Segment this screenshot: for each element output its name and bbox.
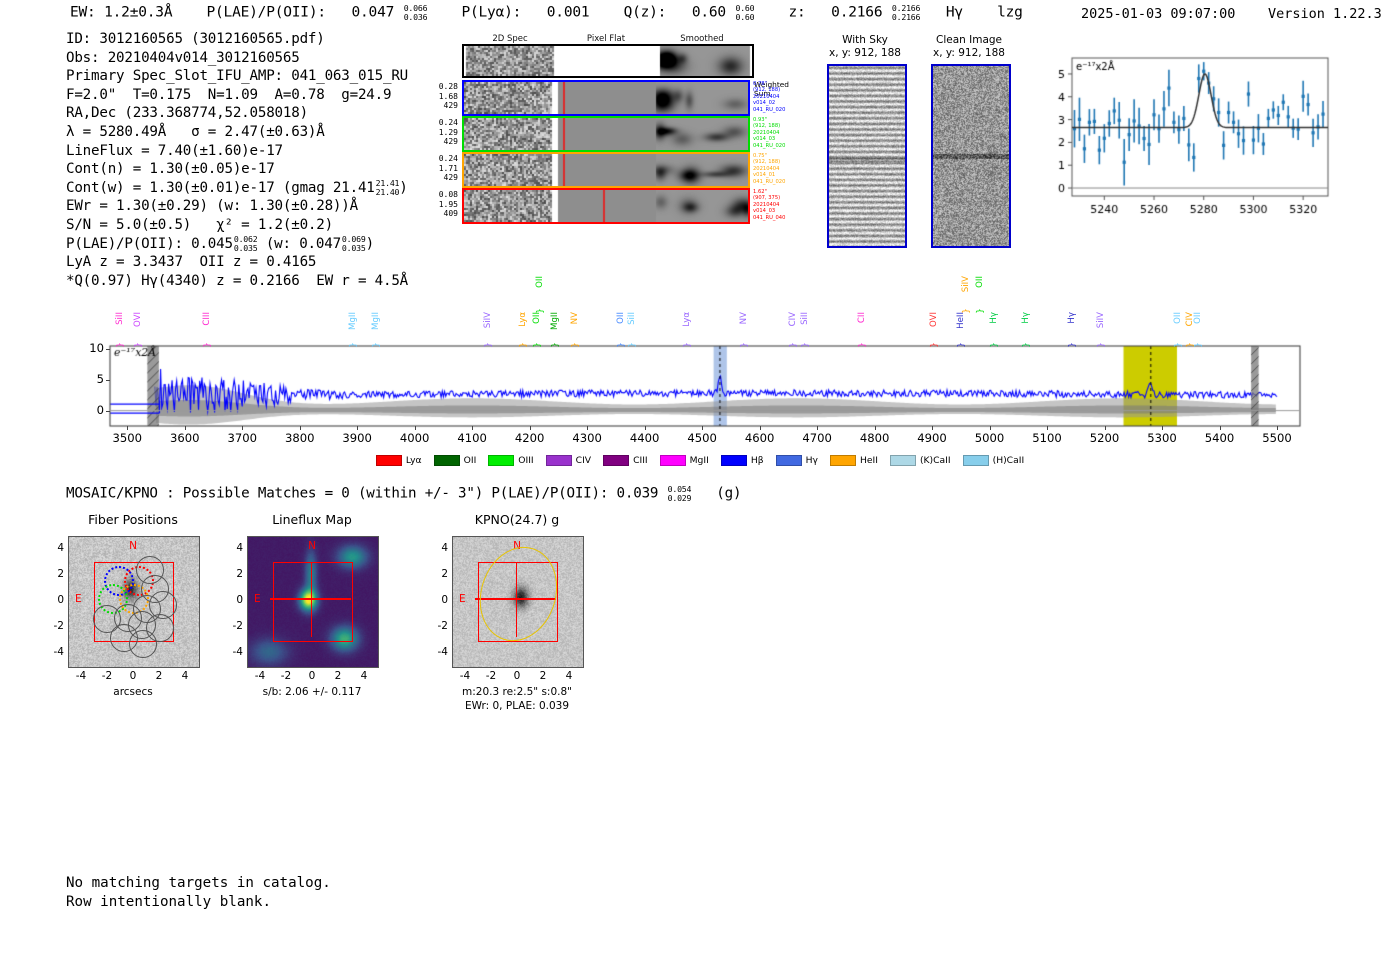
info-id: ID: 3012160565 (3012160565.pdf) — [66, 30, 408, 49]
legend-item: Hγ — [776, 455, 818, 466]
detection-info-block: ID: 3012160565 (3012160565.pdf) Obs: 202… — [66, 30, 408, 290]
info-plae-bounds: 0.0620.035 — [234, 235, 258, 252]
header-plya-label: P(Lyα): — [461, 5, 521, 21]
cutout-col-title-2dspec: 2D Spec — [462, 34, 558, 44]
spectrum-x-tickmark — [185, 426, 186, 430]
legend-item: (K)CaII — [890, 455, 951, 466]
cutout-fiber-metric: 429 — [426, 173, 458, 183]
legend-swatch — [488, 455, 514, 466]
cutout-fiber-metric: 1.71 — [426, 164, 458, 174]
spectrum-x-tick: 5000 — [975, 431, 1005, 445]
cutout-fiber-meta: 0.93"(912, 188)20210404v014_03041_RU_020 — [753, 117, 805, 149]
cutout-fiber-meta-line: 041_RU_020 — [753, 179, 805, 185]
imaging-y-tick: -4 — [428, 646, 448, 658]
legend-swatch — [603, 455, 629, 466]
info-plae: P(LAE)/P(OII): 0.0450.0620.035 (w: 0.047… — [66, 235, 408, 254]
cutout-fiber-metric: 1.95 — [426, 200, 458, 210]
spectrum-x-tickmark — [1047, 426, 1048, 430]
cutout-fiber-metrics: 0.281.68429 — [426, 82, 458, 111]
spectrum-x-tick: 3500 — [112, 431, 142, 445]
spectrum-x-tickmark — [242, 426, 243, 430]
mosaic-prefix: MOSAIC/KPNO : Possible Matches = 0 (with… — [66, 486, 658, 502]
imaging-y-tick: -4 — [223, 646, 243, 658]
info-sn: S/N = 5.0(±0.5) χ² = 1.2(±0.2) — [66, 216, 408, 235]
spectrum-x-tickmark — [472, 426, 473, 430]
spectrum-x-tickmark — [415, 426, 416, 430]
spectrum-x-tick: 4600 — [745, 431, 775, 445]
spectrum-x-tick: 5200 — [1090, 431, 1120, 445]
imaging-y-tick: 0 — [428, 594, 448, 606]
spectrum-x-tick: 3800 — [285, 431, 315, 445]
imaging-x-tick: -2 — [98, 670, 116, 682]
imaging-panels-row: Fiber PositionsNE-44-22002-24-4arcsecsLi… — [0, 508, 700, 728]
legend-item: CIV — [546, 455, 591, 466]
legend-label: (H)CaII — [993, 455, 1025, 466]
header-z-label: z: — [789, 5, 806, 21]
info-plae-w-bounds: 0.0690.035 — [342, 235, 366, 252]
imaging-x-tick: -4 — [72, 670, 90, 682]
spectrum-x-tick: 5300 — [1147, 431, 1177, 445]
spectrum-x-tick: 3900 — [342, 431, 372, 445]
cutout-fiber-row — [462, 152, 750, 188]
spectrum-x-tickmark — [1220, 426, 1221, 430]
legend-item: CIII — [603, 455, 648, 466]
clean-image-title: Clean Image — [924, 34, 1014, 47]
cutout-fiber-images — [464, 154, 748, 186]
with-sky-title: With Sky — [820, 34, 910, 47]
header-z-bounds: 0.21660.2166 — [892, 4, 920, 21]
legend-label: Lyα — [406, 455, 422, 466]
imaging-x-tick: -2 — [482, 670, 500, 682]
cutout-fiber-metric: 409 — [426, 209, 458, 219]
imaging-panel-title: KPNO(24.7) g — [434, 512, 600, 527]
cutout-col-title-smoothed: Smoothed — [654, 34, 750, 44]
spectrum-axis-ticks: 3500360037003800390040004100420043004400… — [0, 268, 1400, 468]
with-sky-image — [827, 64, 907, 248]
spectrum-x-tick: 4400 — [630, 431, 660, 445]
compass-east-label: E — [75, 593, 82, 605]
info-seeing: F=2.0" T=0.175 N=1.09 A=0.78 g=24.9 — [66, 86, 408, 105]
header-ew: EW: 1.2±0.3Å — [70, 5, 172, 21]
info-radec: RA,Dec (233.368774,52.058018) — [66, 104, 408, 123]
cutout-fiber-metric: 429 — [426, 101, 458, 111]
line-zoom-canvas — [1036, 50, 1336, 230]
header-plya-value: 0.001 — [547, 5, 590, 21]
legend-swatch — [434, 455, 460, 466]
legend-label: OIII — [518, 455, 533, 466]
spectrum-x-tickmark — [760, 426, 761, 430]
spectrum-x-tick: 4100 — [457, 431, 487, 445]
imaging-x-tick: 4 — [176, 670, 194, 682]
imaging-x-tick: -4 — [456, 670, 474, 682]
cutout-fiber-metrics: 0.241.29429 — [426, 118, 458, 147]
timestamp: 2025-01-03 09:07:00 — [1081, 6, 1235, 22]
legend-label: Hγ — [806, 455, 818, 466]
imaging-y-tick: 4 — [44, 542, 64, 554]
imaging-panel-caption: m:20.3 re:2.5" s:0.8" — [412, 686, 622, 698]
spectrum-x-tick: 5500 — [1262, 431, 1292, 445]
spectrum-x-tick: 5100 — [1032, 431, 1062, 445]
imaging-y-tick: -2 — [428, 620, 448, 632]
info-cont-w: Cont(w) = 1.30(±0.01)e-17 (gmag 21.4121.… — [66, 179, 408, 198]
spectrum-x-tick: 4000 — [400, 431, 430, 445]
cutout-fiber-row — [462, 116, 750, 152]
info-spec-slot: Primary Spec_Slot_IFU_AMP: 041_063_015_R… — [66, 67, 408, 86]
legend-item: MgII — [660, 455, 709, 466]
imaging-panel-caption: s/b: 2.06 +/- 0.117 — [207, 686, 417, 698]
info-ewr: EWr = 1.30(±0.29) (w: 1.30(±0.28))Å — [66, 197, 408, 216]
footer-line-2: Row intentionally blank. — [66, 893, 331, 912]
cutout-fiber-metrics: 0.081.95409 — [426, 190, 458, 219]
cutout-fiber-images — [464, 82, 748, 114]
spectrum-x-tick: 3600 — [170, 431, 200, 445]
spectrum-x-tickmark — [702, 426, 703, 430]
imaging-y-tick: 0 — [44, 594, 64, 606]
clean-image — [931, 64, 1011, 248]
line-zoom-plot — [1036, 50, 1336, 230]
imaging-y-tick: 2 — [44, 568, 64, 580]
sky-image-panels: With Sky x, y: 912, 188 Clean Image x, y… — [820, 34, 1020, 254]
version-label: Version 1.22.3 — [1268, 6, 1382, 22]
spectrum-x-tick: 4300 — [572, 431, 602, 445]
clean-image-title-block: Clean Image x, y: 912, 188 — [924, 34, 1014, 60]
cutout-weighted-sum-row — [462, 44, 754, 78]
legend-swatch — [776, 455, 802, 466]
cutout-fiber-metric: 1.68 — [426, 92, 458, 102]
imaging-panel-caption-secondary: EWr: 0, PLAE: 0.039 — [412, 700, 622, 712]
cutout-fiber-meta: 1.62"(907, 375)20210404v014_03041_RU_040 — [753, 189, 805, 221]
spectrum-x-tickmark — [932, 426, 933, 430]
header-timestamp-version: 2025-01-03 09:07:00 Version 1.22.3 — [1081, 6, 1382, 22]
cutout-fiber-meta-line: 041_RU_020 — [753, 143, 805, 149]
legend-item: OIII — [488, 455, 533, 466]
imaging-y-tick: -4 — [44, 646, 64, 658]
compass-north-label: N — [129, 540, 137, 552]
spectrum-y-tickmark — [106, 380, 110, 381]
gmag-bounds: 21.4121.40 — [376, 179, 400, 196]
legend-swatch — [963, 455, 989, 466]
compass-north-label: N — [308, 540, 316, 552]
spectrum-x-tickmark — [1162, 426, 1163, 430]
imaging-y-tick: 0 — [223, 594, 243, 606]
header-flags: lzg — [997, 5, 1023, 21]
legend-label: HeII — [860, 455, 878, 466]
imaging-x-tick: 0 — [508, 670, 526, 682]
with-sky-coords: x, y: 912, 188 — [820, 47, 910, 60]
imaging-x-tick: 0 — [124, 670, 142, 682]
header-z-value: 0.2166 — [831, 5, 882, 21]
cutout-fiber-meta-line: 041_RU_020 — [753, 107, 805, 113]
with-sky-title-block: With Sky x, y: 912, 188 — [820, 34, 910, 60]
legend-swatch — [830, 455, 856, 466]
imaging-y-tick: 4 — [223, 542, 243, 554]
emission-line-legend: LyαOIIOIIICIVCIIIMgIIHβHγHeII(K)CaII(H)C… — [0, 450, 1400, 469]
spectrum-x-tick: 4500 — [687, 431, 717, 445]
footer-line-1: No matching targets in catalog. — [66, 874, 331, 893]
fiber-cutout-strip: 2D Spec Pixel Flat Smoothed WeightedSum … — [462, 34, 752, 254]
cutout-fiber-metric: 1.29 — [426, 128, 458, 138]
legend-item: OII — [434, 455, 477, 466]
legend-label: Hβ — [751, 455, 764, 466]
spectrum-x-tick: 4200 — [515, 431, 545, 445]
imaging-x-tick: 2 — [329, 670, 347, 682]
spectrum-x-tickmark — [1105, 426, 1106, 430]
mosaic-suffix: (g) — [716, 486, 741, 502]
imaging-y-tick: 2 — [223, 568, 243, 580]
spectrum-x-tick: 4800 — [860, 431, 890, 445]
legend-item: (H)CaII — [963, 455, 1025, 466]
info-obs: Obs: 20210404v014_3012160565 — [66, 49, 408, 68]
imaging-x-tick: -4 — [251, 670, 269, 682]
spectrum-x-tickmark — [645, 426, 646, 430]
spectrum-y-tick: 5 — [76, 372, 104, 386]
imaging-y-tick: 4 — [428, 542, 448, 554]
imaging-y-tick: -2 — [44, 620, 64, 632]
cutout-fiber-metric: 0.08 — [426, 190, 458, 200]
legend-item: Lyα — [376, 455, 422, 466]
spectrum-x-tickmark — [875, 426, 876, 430]
clean-image-coords: x, y: 912, 188 — [924, 47, 1014, 60]
header-qz-value: 0.60 — [692, 5, 726, 21]
spectrum-x-tickmark — [817, 426, 818, 430]
footer-notes: No matching targets in catalog. Row inte… — [66, 874, 331, 911]
legend-label: CIII — [633, 455, 648, 466]
spectrum-x-tickmark — [1277, 426, 1278, 430]
fiber-aperture-circle — [93, 605, 121, 633]
cutout-fiber-metric: 0.28 — [426, 82, 458, 92]
compass-east-label: E — [254, 593, 261, 605]
legend-swatch — [660, 455, 686, 466]
full-spectrum-panel: SiII{OVI{CIII{MgII{MgII{SiIV{Lyα{OII{OII… — [0, 268, 1400, 468]
header-qz-label: Q(z): — [624, 5, 667, 21]
legend-item: Hβ — [721, 455, 764, 466]
imaging-x-tick: 4 — [355, 670, 373, 682]
imaging-x-tick: 2 — [534, 670, 552, 682]
header-line-id: Hγ — [946, 5, 963, 21]
spectrum-x-tickmark — [530, 426, 531, 430]
fiber-aperture-circle — [146, 614, 174, 642]
spectrum-x-tickmark — [357, 426, 358, 430]
cutout-fiber-meta-line: 041_RU_040 — [753, 215, 805, 221]
legend-label: (K)CaII — [920, 455, 951, 466]
cutout-fiber-row — [462, 80, 750, 116]
imaging-x-tick: 2 — [150, 670, 168, 682]
imaging-x-tick: 0 — [303, 670, 321, 682]
legend-swatch — [890, 455, 916, 466]
legend-item: HeII — [830, 455, 878, 466]
spectrum-y-tickmark — [106, 349, 110, 350]
legend-swatch — [546, 455, 572, 466]
cutout-fiber-metric: 0.24 — [426, 154, 458, 164]
spectrum-y-tickmark — [106, 411, 110, 412]
cutout-fiber-metric: 429 — [426, 137, 458, 147]
imaging-x-tick: 4 — [560, 670, 578, 682]
header-qz-bounds: 0.600.60 — [735, 4, 754, 21]
spectrum-y-tick: 0 — [76, 403, 104, 417]
imaging-x-tick: -2 — [277, 670, 295, 682]
header-plae-label: P(LAE)/P(OII): — [206, 5, 325, 21]
cutout-col-title-pixelflat: Pixel Flat — [558, 34, 654, 44]
legend-label: OII — [464, 455, 477, 466]
spectrum-x-tick: 5400 — [1205, 431, 1235, 445]
compass-east-label: E — [459, 593, 466, 605]
legend-label: MgII — [690, 455, 709, 466]
spectrum-x-tickmark — [990, 426, 991, 430]
header-summary-line: EW: 1.2±0.3Å P(LAE)/P(OII): 0.047 0.0660… — [70, 4, 1023, 21]
spectrum-x-tick: 4700 — [802, 431, 832, 445]
imaging-panel-title: Fiber Positions — [50, 512, 216, 527]
header-plae-bounds: 0.0660.036 — [404, 4, 428, 21]
cutout-fiber-images — [464, 118, 748, 150]
spectrum-x-tickmark — [587, 426, 588, 430]
imaging-panel-red-box — [273, 562, 353, 642]
cutout-fiber-metric: 0.24 — [426, 118, 458, 128]
imaging-y-tick: -2 — [223, 620, 243, 632]
spectrum-x-tickmark — [127, 426, 128, 430]
legend-label: CIV — [576, 455, 591, 466]
info-lineflux: LineFlux = 7.40(±1.60)e-17 — [66, 142, 408, 161]
spectrum-x-tickmark — [300, 426, 301, 430]
cutout-fiber-images — [464, 190, 748, 222]
spectrum-x-tick: 3700 — [227, 431, 257, 445]
cutout-fiber-metrics: 0.241.71429 — [426, 154, 458, 183]
legend-swatch — [721, 455, 747, 466]
info-lambda: λ = 5280.49Å σ = 2.47(±0.63)Å — [66, 123, 408, 142]
spectrum-x-tick: 4900 — [917, 431, 947, 445]
cutout-fiber-meta: 0.75"(912, 188)20210404v014_01041_RU_020 — [753, 153, 805, 185]
info-cont-n: Cont(n) = 1.30(±0.05)e-17 — [66, 160, 408, 179]
imaging-panel-title: Lineflux Map — [229, 512, 395, 527]
header-plae-value: 0.047 — [352, 5, 395, 21]
cutout-fiber-row — [462, 188, 750, 224]
imaging-y-tick: 2 — [428, 568, 448, 580]
spectrum-y-tick: 10 — [76, 341, 104, 355]
cutout-fiber-meta: 0.78"(912, 188)20210404v014_02041_RU_020 — [753, 81, 805, 113]
legend-swatch — [376, 455, 402, 466]
mosaic-match-line: MOSAIC/KPNO : Possible Matches = 0 (with… — [66, 485, 741, 502]
mosaic-plae-bounds: 0.0540.029 — [668, 485, 692, 502]
